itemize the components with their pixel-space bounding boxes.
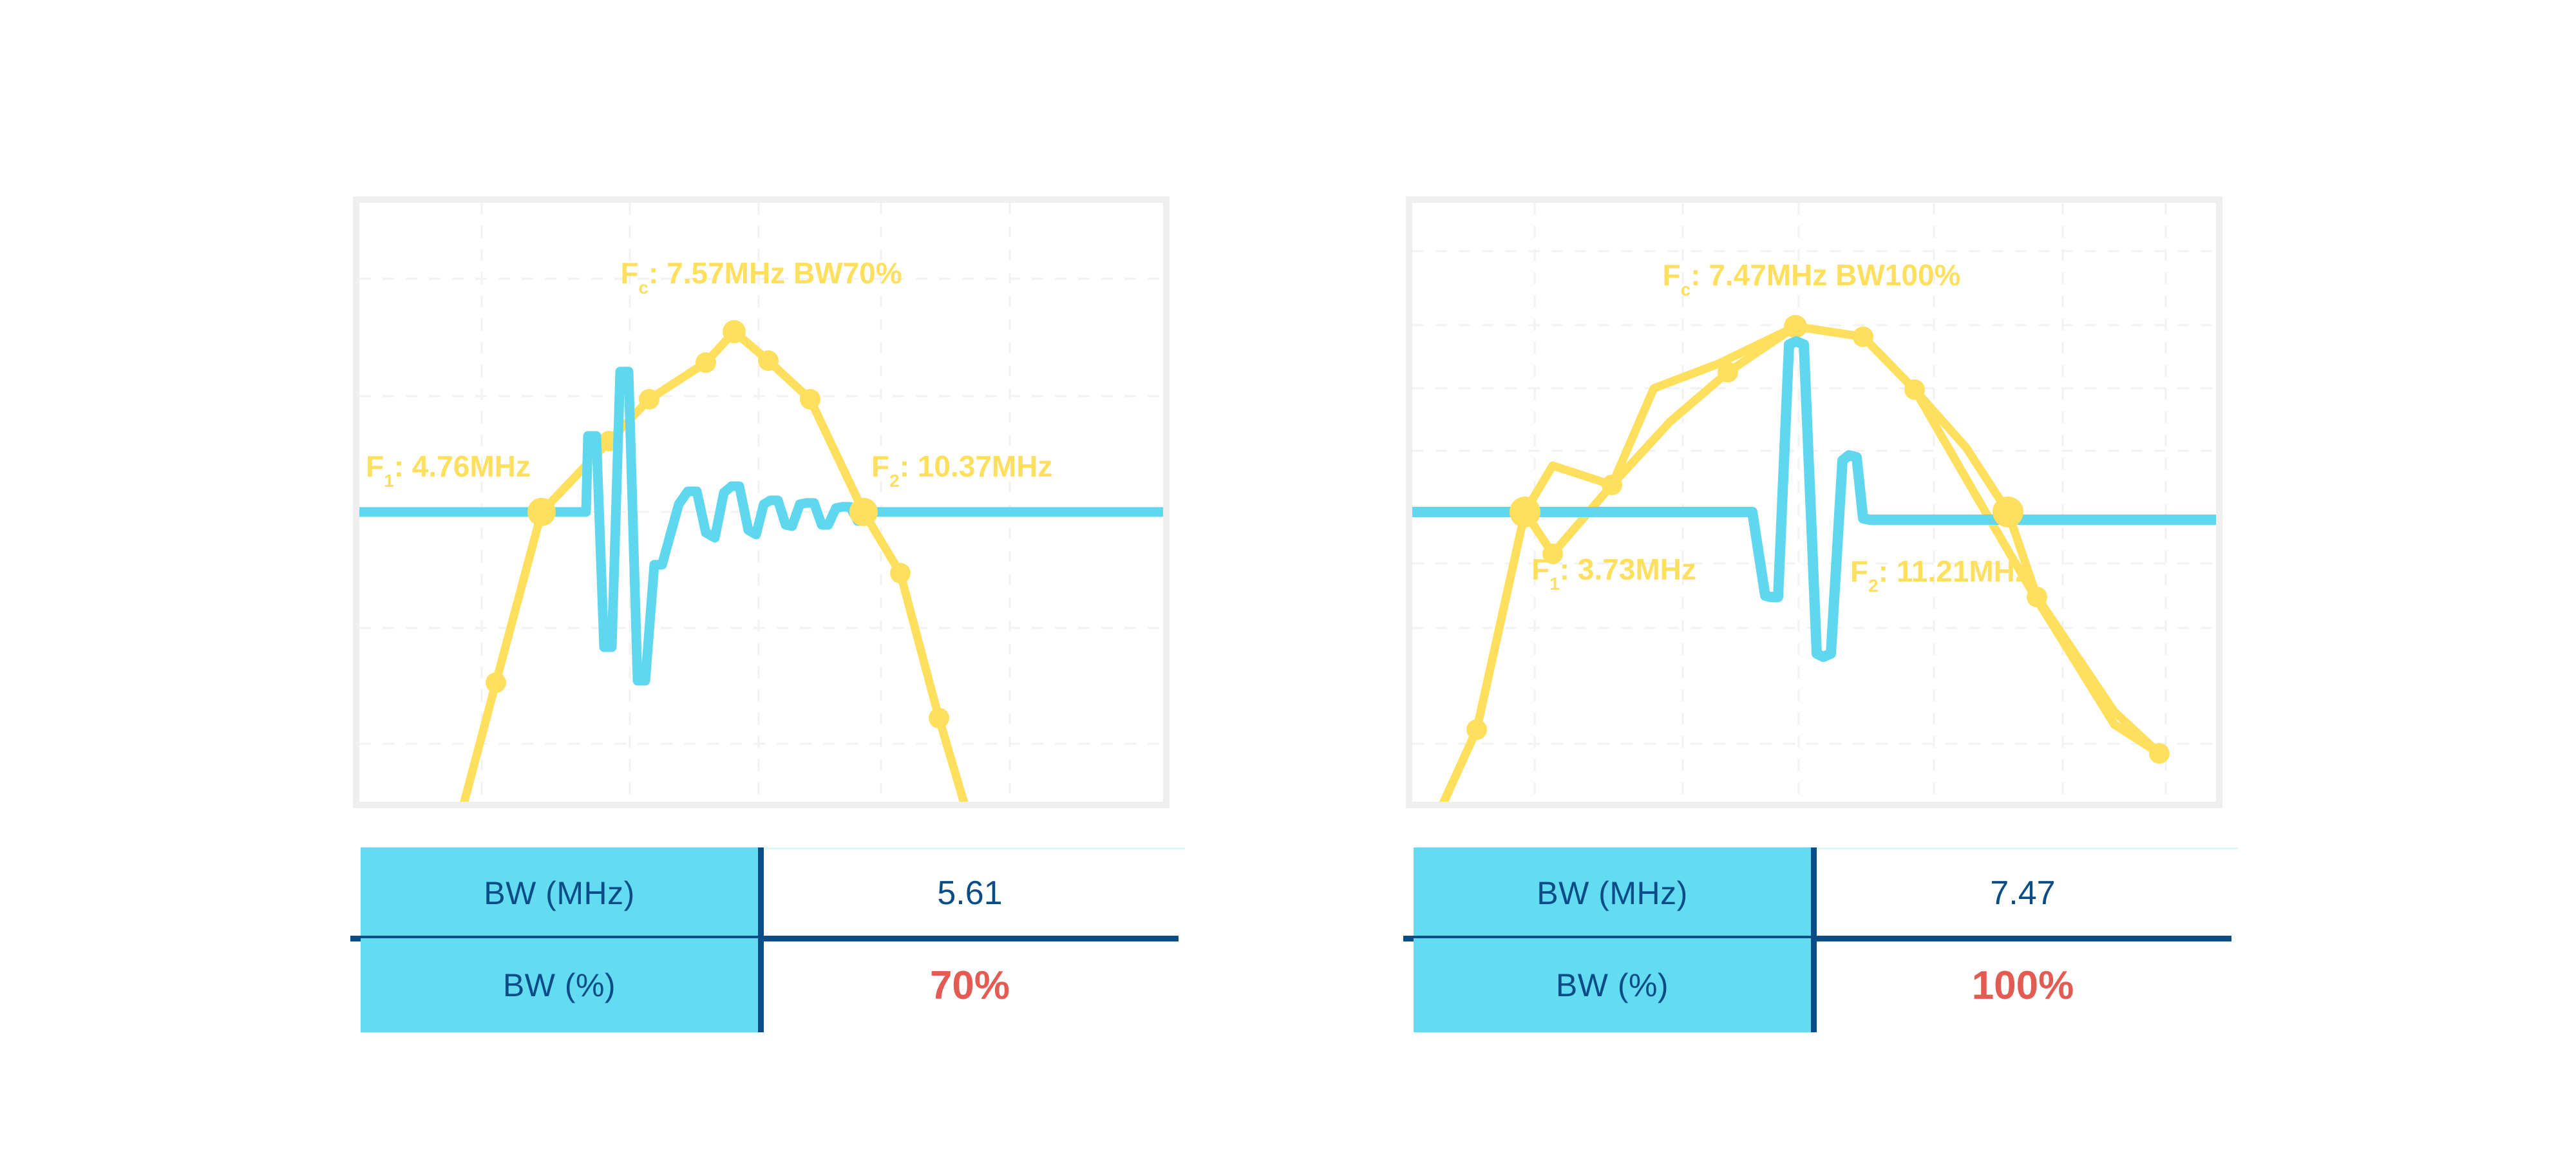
annotation-fc-sub-right: c	[1681, 279, 1691, 299]
annotation-f1-text-left: : 4.76MHz	[394, 449, 531, 483]
chart-plot-area-right: Fc: 7.47MHz BW100% F1: 3.73MHz F2: 11.21…	[1412, 203, 2216, 802]
annotation-f2-right: F2: 11.21MHz	[1850, 554, 2030, 596]
annotation-f1-left: F1: 4.76MHz	[366, 449, 531, 491]
bw-pct-label-right: BW (%)	[1414, 938, 1817, 1032]
annotation-f2-left: F2: 10.37MHz	[871, 449, 1052, 491]
table-row: BW (%) 70%	[361, 938, 1185, 1032]
bw-pct-label-left: BW (%)	[361, 938, 764, 1032]
bw-pct-value-right: 100%	[1817, 938, 2229, 1032]
bw-mhz-label-right: BW (MHz)	[1414, 847, 1817, 938]
annotation-fc-prefix-left: F	[620, 256, 638, 290]
annotation-f1-prefix-left: F	[366, 449, 384, 483]
annotation-f2-sub-right: 2	[1868, 576, 1879, 596]
annotation-fc-sub-left: c	[638, 278, 649, 298]
bw-table-right: BW (MHz) 7.47 BW (%) 100%	[1414, 847, 2238, 1032]
chart-panel-right: Fc: 7.47MHz BW100% F1: 3.73MHz F2: 11.21…	[1406, 196, 2222, 808]
annotation-f1-text-right: : 3.73MHz	[1560, 553, 1696, 586]
bw-table-left: BW (MHz) 5.61 BW (%) 70%	[361, 847, 1185, 1032]
annotation-fc-text-right: : 7.47MHz BW100%	[1690, 258, 1960, 292]
annotation-fc-right: Fc: 7.47MHz BW100%	[1663, 258, 1961, 299]
table-row: BW (MHz) 7.47	[1414, 847, 2238, 938]
chart-panel-left: Fc: 7.57MHz BW70% F1: 4.76MHz F2: 10.37M…	[353, 196, 1170, 808]
chart-svg-right: Fc: 7.47MHz BW100% F1: 3.73MHz F2: 11.21…	[1412, 203, 2216, 802]
annotation-fc-text-left: : 7.57MHz BW70%	[649, 256, 902, 290]
bw-mhz-label-left: BW (MHz)	[361, 847, 764, 938]
bw-mhz-value-left: 5.61	[764, 847, 1176, 938]
annotation-fc-left: Fc: 7.57MHz BW70%	[620, 256, 902, 298]
annotation-f1-sub-right: 1	[1549, 574, 1560, 594]
annotation-f1-prefix-right: F	[1531, 553, 1549, 586]
annotation-fc-prefix-right: F	[1663, 258, 1681, 292]
bw-pct-value-left: 70%	[764, 938, 1176, 1032]
chart-plot-area-left: Fc: 7.57MHz BW70% F1: 4.76MHz F2: 10.37M…	[359, 203, 1163, 802]
spectrum-markers-right	[1466, 315, 2170, 764]
figure-canvas: Fc: 7.57MHz BW70% F1: 4.76MHz F2: 10.37M…	[0, 0, 2576, 1154]
spectrum-curve-left	[459, 332, 965, 802]
pulse-echo-waveform-left	[359, 372, 1163, 681]
bw-mhz-value-right: 7.47	[1817, 847, 2229, 938]
table-row: BW (%) 100%	[1414, 938, 2238, 1032]
chart-svg-left: Fc: 7.57MHz BW70% F1: 4.76MHz F2: 10.37M…	[359, 203, 1163, 802]
table-row: BW (MHz) 5.61	[361, 847, 1185, 938]
annotation-f2-text-right: : 11.21MHz	[1879, 554, 2030, 588]
annotation-f2-prefix-right: F	[1850, 554, 1868, 588]
annotation-f2-text-left: : 10.37MHz	[900, 449, 1053, 483]
annotation-f2-sub-left: 2	[889, 471, 900, 491]
annotation-f2-prefix-left: F	[871, 449, 889, 483]
annotation-f1-sub-left: 1	[384, 471, 394, 491]
